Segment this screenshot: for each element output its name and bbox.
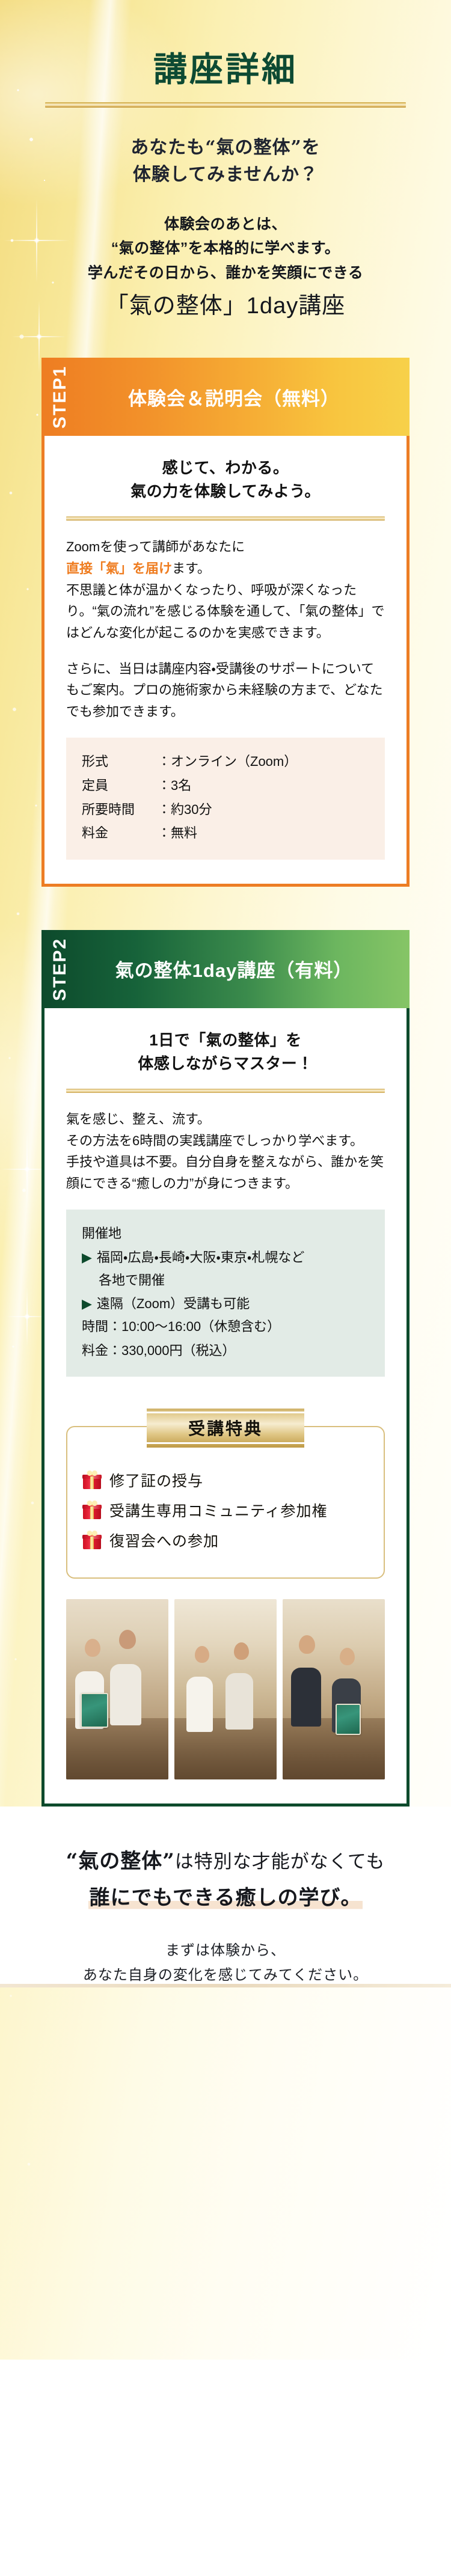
venue-bullet-2: ▶ 遠隔（Zoom）受講も可能 — [82, 1293, 369, 1315]
page-title: 講座詳細 — [0, 52, 451, 89]
venue-bullet-1-text: 福岡・広島・長崎・大阪・東京・札幌など — [97, 1247, 369, 1268]
venue-price: 料金：330,000円（税込） — [82, 1340, 369, 1362]
gift-icon — [83, 1471, 101, 1489]
step1-body: 感じて、わかる。 氣の力を体験してみよう。 Zoomを使って講師があなたに 直接… — [41, 436, 410, 887]
step1-card: STEP1 体験会＆説明会（無料） 感じて、わかる。 氣の力を体験してみよう。 … — [41, 358, 410, 887]
closing-subtext: まずは体験から、 あなた自身の変化を感じてみてください。 — [0, 1938, 451, 1988]
step2-header: STEP2 氣の整体1day講座（有料） — [41, 930, 410, 1008]
benefit-label: 受講生専用コミュニティ参加権 — [109, 1499, 328, 1521]
spec-key: 形式 — [82, 751, 158, 772]
gold-divider — [45, 102, 406, 108]
step1-para1-b: ます。 — [172, 561, 210, 576]
step2-para-2: その方法を6時間の実践講座でしっかり学べます。 — [66, 1133, 363, 1148]
closing-emphasis: “氣の整体” — [66, 1849, 175, 1873]
step1-para1-c: 不思議と体が温かくなったり、呼吸が深くなったり。“氣の流れ”を感じる体験を通して… — [66, 583, 384, 640]
closing-line-1: “氣の整体”は特別な才能がなくても — [0, 1845, 451, 1877]
step2-card: STEP2 氣の整体1day講座（有料） 1日で「氣の整体」を 体感しながらマス… — [41, 930, 410, 1807]
spec-row: 定員 ：3名 — [82, 775, 369, 797]
step2-paragraph-1: 氣を感じ、整え、流す。 その方法を6時間の実践講座でしっかり学べます。 手技や道… — [66, 1109, 385, 1195]
venue-time: 時間：10:00〜16:00（休憩含む） — [82, 1316, 369, 1338]
spec-value: ：約30分 — [158, 799, 369, 821]
hero-subtext: 体験会のあとは、 “氣の整体”を本格的に学べます。 学んだその日から、誰かを笑顔… — [0, 212, 451, 286]
closing-line-2-text: 誰にでもできる癒しの学び。 — [88, 1886, 363, 1910]
venue-bullet-1: ▶ 福岡・広島・長崎・大阪・東京・札幌など — [82, 1247, 369, 1268]
hero-subtext-line-2: “氣の整体”を本格的に学べます。 — [0, 236, 451, 261]
step2-badge: STEP2 — [51, 936, 69, 1002]
benefits-box: 修了証の授与 受講生専用コミュニティ参加権 復習会への参加 — [66, 1426, 385, 1579]
benefits-ribbon-inner: 受講特典 — [147, 1408, 304, 1448]
step2-venue-box: 開催地 ▶ 福岡・広島・長崎・大阪・東京・札幌など 各地で開催 ▶ 遠隔（Zoo… — [66, 1210, 385, 1377]
hero-lead-line-2: 体験してみませんか？ — [0, 161, 451, 188]
step2-lead-line-2: 体感しながらマスター！ — [66, 1052, 385, 1075]
page-header: 講座詳細 — [0, 0, 451, 108]
spec-value: ：無料 — [158, 822, 369, 844]
benefit-label: 復習会への参加 — [109, 1529, 219, 1551]
step2-body: 1日で「氣の整体」を 体感しながらマスター！ 氣を感じ、整え、流す。 その方法を… — [41, 1008, 410, 1807]
benefits-ribbon: 受講特典 — [147, 1408, 304, 1448]
step1-paragraph-2: さらに、当日は講座内容・受講後のサポートについてもご案内。プロの施術家から未経験… — [66, 658, 385, 723]
bottom-divider — [0, 1984, 451, 1987]
step1-badge: STEP1 — [51, 364, 69, 430]
benefit-label: 修了証の授与 — [109, 1469, 203, 1491]
photo-gallery — [66, 1599, 385, 1779]
step1-title: 体験会＆説明会（無料） — [69, 384, 410, 411]
step2-lead-line-1: 1日で「氣の整体」を — [66, 1029, 385, 1052]
benefit-item: 復習会への参加 — [83, 1529, 368, 1551]
step1-highlight: 直接「氣」を届け — [66, 561, 172, 576]
step2-para-1: 氣を感じ、整え、流す。 — [66, 1112, 210, 1127]
hero-lead-line-1: あなたも“氣の整体”を — [0, 134, 451, 161]
step1-lead-line-2: 氣の力を体験してみよう。 — [66, 480, 385, 503]
spec-row: 形式 ：オンライン（Zoom） — [82, 751, 369, 772]
closing-subtext-line-1: まずは体験から、 — [0, 1938, 451, 1963]
course-photo — [66, 1599, 168, 1779]
benefits-ribbon-title: 受講特典 — [188, 1419, 263, 1439]
closing-section: “氣の整体”は特別な才能がなくても 誰にでもできる癒しの学び。 まずは体験から、… — [0, 1807, 451, 1987]
spec-value: ：3名 — [158, 775, 369, 797]
gift-icon — [83, 1501, 101, 1519]
triangle-bullet-icon: ▶ — [82, 1247, 92, 1268]
spec-key: 定員 — [82, 775, 158, 797]
step2-gold-divider — [66, 1089, 385, 1093]
step1-gold-divider — [66, 516, 385, 521]
venue-label: 開催地 — [82, 1223, 369, 1244]
course-detail-page: 講座詳細 あなたも“氣の整体”を 体験してみませんか？ 体験会のあとは、 “氣の… — [0, 0, 451, 2576]
step1-lead: 感じて、わかる。 氣の力を体験してみよう。 — [66, 456, 385, 503]
step1-lead-line-1: 感じて、わかる。 — [66, 456, 385, 480]
spec-key: 所要時間 — [82, 799, 158, 821]
closing-line-1-rest: は特別な才能がなくても — [175, 1851, 385, 1873]
step2-title: 氣の整体1day講座（有料） — [69, 955, 410, 982]
hero-lead: あなたも“氣の整体”を 体験してみませんか？ — [0, 134, 451, 188]
spec-key: 料金 — [82, 822, 158, 844]
step1-header: STEP1 体験会＆説明会（無料） — [41, 358, 410, 436]
benefit-item: 受講生専用コミュニティ参加権 — [83, 1499, 368, 1521]
course-photo — [174, 1599, 277, 1779]
hero-subtext-line-1: 体験会のあとは、 — [0, 212, 451, 237]
spec-row: 所要時間 ：約30分 — [82, 799, 369, 821]
benefit-item: 修了証の授与 — [83, 1469, 368, 1491]
step2-lead: 1日で「氣の整体」を 体感しながらマスター！ — [66, 1029, 385, 1075]
venue-bullet-2-text: 遠隔（Zoom）受講も可能 — [97, 1293, 369, 1315]
hero-course-name: 「氣の整体」1day講座 — [0, 291, 451, 322]
triangle-bullet-icon: ▶ — [82, 1293, 92, 1315]
gift-icon — [83, 1531, 101, 1549]
step1-spec-box: 形式 ：オンライン（Zoom） 定員 ：3名 所要時間 ：約30分 料金 ：無料 — [66, 738, 385, 860]
step1-para1-a: Zoomを使って講師があなたに — [66, 539, 245, 554]
closing-line-2: 誰にでもできる癒しの学び。 — [0, 1882, 451, 1914]
course-photo — [283, 1599, 385, 1779]
hero-subtext-line-3: 学んだその日から、誰かを笑顔にできる — [0, 261, 451, 286]
venue-bullet-1-continued: 各地で開催 — [82, 1270, 369, 1291]
step2-para-3: 手技や道具は不要。自分自身を整えながら、誰かを笑顔にできる“癒しの力”が身につき… — [66, 1154, 384, 1191]
spec-value: ：オンライン（Zoom） — [158, 751, 369, 772]
benefits-section: 受講特典 修了証の授与 受講生専用コミュニティ参加権 — [66, 1408, 385, 1579]
step1-paragraph-1: Zoomを使って講師があなたに 直接「氣」を届けます。 不思議と体が温かくなった… — [66, 536, 385, 643]
spec-row: 料金 ：無料 — [82, 822, 369, 844]
